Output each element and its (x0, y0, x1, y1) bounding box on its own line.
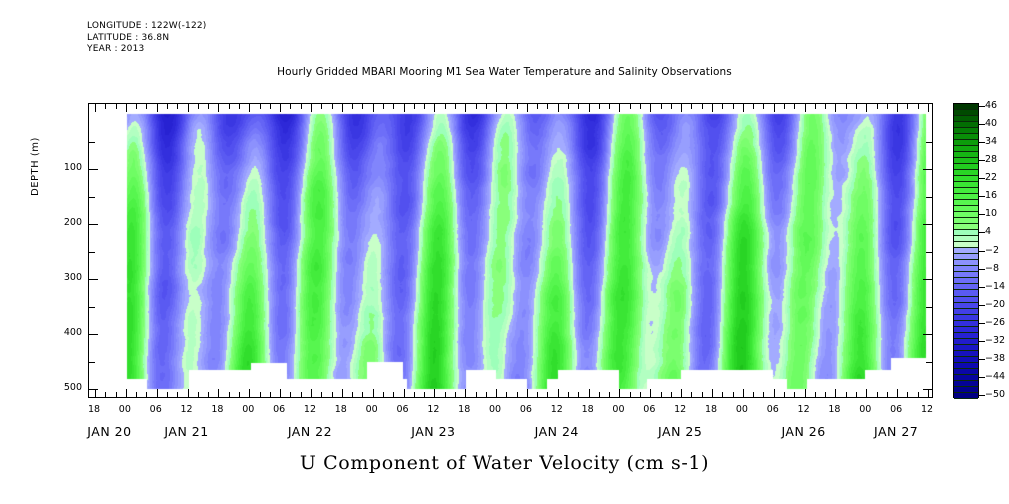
axis-tick (547, 104, 548, 109)
colorbar-tick-label: 16 (985, 190, 997, 201)
x-axis-hour-label: 18 (576, 404, 600, 415)
axis-tick (926, 307, 932, 308)
axis-tick (650, 389, 651, 397)
axis-tick (496, 389, 497, 397)
x-axis-hour-label: 06 (761, 404, 785, 415)
axis-tick (280, 389, 281, 397)
x-axis-hour-label: 00 (483, 404, 507, 415)
x-axis-day-label: JAN 22 (265, 424, 355, 439)
axis-tick (136, 104, 137, 109)
colorbar-tick-label: −26 (985, 317, 1005, 328)
axis-tick (774, 389, 775, 397)
axis-tick (681, 104, 682, 112)
axis-tick (619, 104, 620, 112)
axis-tick (198, 392, 199, 397)
colorbar-tick (979, 395, 985, 396)
colorbar-tick (979, 287, 985, 288)
axis-tick (177, 104, 178, 109)
colorbar-tick (979, 124, 985, 125)
axis-tick (311, 389, 312, 397)
axis-tick (722, 104, 723, 109)
axis-tick (926, 142, 932, 143)
axis-tick (486, 104, 487, 109)
x-axis-hour-label: 12 (421, 404, 445, 415)
axis-tick (589, 104, 590, 112)
x-axis-day-label: JAN 25 (635, 424, 725, 439)
x-axis-hour-label: 06 (267, 404, 291, 415)
axis-tick (923, 224, 932, 225)
axis-tick (167, 392, 168, 397)
axis-tick (897, 389, 898, 397)
axis-tick (926, 197, 932, 198)
axis-tick (897, 104, 898, 112)
x-axis-hour-label: 12 (545, 404, 569, 415)
axis-tick (89, 362, 95, 363)
axis-tick (825, 104, 826, 109)
x-axis-day-label: JAN 24 (512, 424, 602, 439)
colorbar-tick (979, 269, 985, 270)
axis-tick (671, 104, 672, 109)
axis-tick (89, 252, 95, 253)
y-axis-label: 200 (56, 217, 82, 228)
colorbar-tick-label: 10 (985, 208, 997, 219)
x-axis-hour-label: 06 (391, 404, 415, 415)
colorbar-tick-label: 28 (985, 154, 997, 165)
colorbar (953, 103, 979, 398)
axis-tick (866, 104, 867, 112)
axis-tick (926, 252, 932, 253)
axis-tick (877, 104, 878, 109)
axis-tick (753, 392, 754, 397)
year-text: YEAR : 2013 (87, 44, 207, 56)
axis-tick (517, 104, 518, 109)
axis-tick (671, 392, 672, 397)
axis-tick (332, 392, 333, 397)
axis-tick (846, 104, 847, 109)
axis-tick (578, 392, 579, 397)
axis-tick (249, 389, 250, 397)
axis-tick (702, 392, 703, 397)
axis-tick (239, 104, 240, 109)
x-axis-hour-label: 00 (853, 404, 877, 415)
axis-tick (229, 392, 230, 397)
y-axis-label: 500 (56, 382, 82, 393)
axis-tick (414, 104, 415, 109)
colorbar-tick-label: −2 (985, 245, 999, 256)
axis-tick (527, 104, 528, 112)
axis-tick (393, 104, 394, 109)
axis-tick (383, 104, 384, 109)
axis-tick (157, 389, 158, 397)
x-axis-hour-label: 06 (637, 404, 661, 415)
axis-tick (918, 392, 919, 397)
axis-tick (290, 104, 291, 109)
axis-tick (89, 169, 98, 170)
axis-tick (373, 389, 374, 397)
axis-tick (260, 104, 261, 109)
axis-tick (856, 392, 857, 397)
axis-tick (126, 104, 127, 112)
axis-tick (805, 389, 806, 397)
axis-tick (907, 104, 908, 109)
axis-tick (609, 392, 610, 397)
colorbar-tick-label: −20 (985, 299, 1005, 310)
x-axis-hour-label: 12 (915, 404, 939, 415)
axis-tick (445, 104, 446, 109)
y-axis-title: DEPTH (m) (30, 137, 41, 196)
axis-tick (404, 104, 405, 112)
axis-tick (105, 104, 106, 109)
colorbar-tick (979, 305, 985, 306)
axis-tick (177, 392, 178, 397)
axis-tick (188, 389, 189, 397)
axis-tick (105, 392, 106, 397)
axis-tick (825, 392, 826, 397)
axis-tick (537, 104, 538, 109)
axis-tick (301, 104, 302, 109)
colorbar-tick (979, 214, 985, 215)
colorbar-tick-label: 46 (985, 100, 997, 111)
axis-tick (89, 307, 95, 308)
axis-tick (784, 104, 785, 109)
axis-tick (650, 104, 651, 112)
colorbar-tick (979, 377, 985, 378)
axis-tick (722, 392, 723, 397)
axis-tick (89, 279, 98, 280)
x-axis-hour-label: 00 (113, 404, 137, 415)
colorbar-tick (979, 251, 985, 252)
axis-tick (918, 104, 919, 109)
colorbar-tick-label: −38 (985, 353, 1005, 364)
axis-tick (733, 392, 734, 397)
colorbar-tick (979, 178, 985, 179)
axis-tick (630, 392, 631, 397)
axis-tick (517, 392, 518, 397)
x-axis-hour-label: 06 (514, 404, 538, 415)
colorbar-tick (979, 142, 985, 143)
x-axis-hour-label: 12 (175, 404, 199, 415)
axis-tick (424, 104, 425, 109)
axis-tick (455, 104, 456, 109)
axis-tick (434, 104, 435, 112)
colorbar-tick-label: 40 (985, 118, 997, 129)
axis-tick (465, 389, 466, 397)
axis-tick (352, 104, 353, 109)
axis-tick (89, 389, 98, 390)
axis-tick (167, 104, 168, 109)
axis-tick (506, 104, 507, 109)
axis-tick (640, 104, 641, 109)
axis-tick (424, 392, 425, 397)
axis-tick (877, 392, 878, 397)
colorbar-tick-label: −50 (985, 389, 1005, 400)
axis-tick (928, 104, 929, 112)
x-axis-hour-label: 18 (452, 404, 476, 415)
axis-tick (712, 389, 713, 397)
figure-title: Hourly Gridded MBARI Mooring M1 Sea Wate… (0, 66, 1009, 78)
axis-tick (815, 104, 816, 109)
axis-tick (506, 392, 507, 397)
x-axis-day-label: JAN 21 (142, 424, 232, 439)
axis-tick (609, 104, 610, 109)
axis-tick (157, 104, 158, 112)
x-axis-hour-label: 06 (144, 404, 168, 415)
axis-tick (404, 389, 405, 397)
axis-tick (578, 104, 579, 109)
axis-tick (218, 389, 219, 397)
axis-tick (362, 392, 363, 397)
x-axis-hour-label: 00 (236, 404, 260, 415)
axis-tick (805, 104, 806, 112)
axis-tick (926, 362, 932, 363)
axis-tick (229, 104, 230, 109)
x-axis-hour-label: 18 (699, 404, 723, 415)
axis-tick (393, 392, 394, 397)
colorbar-band (954, 393, 978, 399)
colorbar-tick-label: −8 (985, 263, 999, 274)
axis-tick (537, 392, 538, 397)
axis-tick (923, 389, 932, 390)
axis-tick (815, 392, 816, 397)
axis-tick (89, 142, 95, 143)
axis-tick (661, 104, 662, 109)
axis-tick (763, 104, 764, 109)
x-axis-day-label: JAN 26 (759, 424, 849, 439)
axis-tick (362, 104, 363, 109)
axis-tick (352, 392, 353, 397)
colorbar-tick (979, 160, 985, 161)
axis-tick (887, 104, 888, 109)
y-axis-label: 300 (56, 272, 82, 283)
axis-tick (301, 392, 302, 397)
axis-tick (136, 392, 137, 397)
axis-tick (126, 389, 127, 397)
x-axis-hour-label: 18 (822, 404, 846, 415)
axis-tick (434, 389, 435, 397)
axis-tick (218, 104, 219, 112)
axis-tick (116, 392, 117, 397)
axis-tick (794, 392, 795, 397)
x-axis-hour-label: 00 (730, 404, 754, 415)
axis-tick (270, 104, 271, 109)
axis-tick (568, 392, 569, 397)
axis-tick (342, 104, 343, 112)
colorbar-tick (979, 196, 985, 197)
axis-tick (743, 104, 744, 112)
axis-tick (373, 104, 374, 112)
axis-tick (774, 104, 775, 112)
axis-tick (923, 279, 932, 280)
axis-tick (239, 392, 240, 397)
axis-tick (763, 392, 764, 397)
axis-tick (321, 104, 322, 109)
figure-caption: U Component of Water Velocity (cm s-1) (0, 452, 1009, 474)
axis-tick (496, 104, 497, 112)
colorbar-tick-label: −44 (985, 371, 1005, 382)
axis-tick (630, 104, 631, 109)
velocity-field-canvas (89, 104, 932, 397)
colorbar-tick (979, 341, 985, 342)
x-axis-hour-label: 12 (668, 404, 692, 415)
colorbar-tick-label: 4 (985, 226, 991, 237)
axis-tick (249, 104, 250, 112)
axis-tick (89, 197, 95, 198)
axis-tick (342, 389, 343, 397)
axis-tick (589, 389, 590, 397)
axis-tick (691, 104, 692, 109)
axis-tick (95, 389, 96, 397)
axis-tick (835, 104, 836, 112)
axis-tick (558, 389, 559, 397)
axis-tick (311, 104, 312, 112)
colorbar-tick-label: 34 (985, 136, 997, 147)
longitude-text: LONGITUDE : 122W(-122) (87, 21, 207, 33)
x-axis-hour-label: 12 (298, 404, 322, 415)
axis-tick (270, 392, 271, 397)
x-axis-hour-label: 00 (360, 404, 384, 415)
axis-tick (784, 392, 785, 397)
axis-tick (691, 392, 692, 397)
axis-tick (753, 104, 754, 109)
axis-tick (640, 392, 641, 397)
axis-tick (928, 389, 929, 397)
colorbar-tick (979, 106, 985, 107)
axis-tick (89, 224, 98, 225)
x-axis-hour-label: 00 (606, 404, 630, 415)
axis-tick (681, 389, 682, 397)
axis-tick (146, 392, 147, 397)
axis-tick (260, 392, 261, 397)
axis-tick (568, 104, 569, 109)
axis-tick (712, 104, 713, 112)
y-axis-label: 100 (56, 162, 82, 173)
colorbar-tick (979, 323, 985, 324)
axis-tick (321, 392, 322, 397)
axis-tick (846, 392, 847, 397)
axis-tick (856, 104, 857, 109)
axis-tick (887, 392, 888, 397)
axis-tick (547, 392, 548, 397)
axis-tick (476, 392, 477, 397)
x-axis-day-label: JAN 23 (388, 424, 478, 439)
axis-tick (476, 104, 477, 109)
axis-tick (146, 104, 147, 109)
plot-area (88, 103, 933, 398)
axis-tick (445, 392, 446, 397)
axis-tick (835, 389, 836, 397)
axis-tick (465, 104, 466, 112)
x-axis-hour-label: 06 (884, 404, 908, 415)
axis-tick (198, 104, 199, 109)
x-axis-hour-label: 12 (792, 404, 816, 415)
axis-tick (208, 104, 209, 109)
axis-tick (414, 392, 415, 397)
axis-tick (558, 104, 559, 112)
axis-tick (923, 334, 932, 335)
axis-tick (332, 104, 333, 109)
axis-tick (527, 389, 528, 397)
colorbar-tick (979, 232, 985, 233)
axis-tick (619, 389, 620, 397)
axis-tick (702, 104, 703, 109)
axis-tick (290, 392, 291, 397)
metadata-header: LONGITUDE : 122W(-122) LATITUDE : 36.8N … (87, 21, 207, 56)
axis-tick (280, 104, 281, 112)
axis-tick (188, 104, 189, 112)
axis-tick (599, 392, 600, 397)
colorbar-tick-label: −14 (985, 281, 1005, 292)
axis-tick (733, 104, 734, 109)
x-axis-hour-label: 18 (82, 404, 106, 415)
axis-tick (486, 392, 487, 397)
x-axis-hour-label: 18 (205, 404, 229, 415)
colorbar-tick-label: 22 (985, 172, 997, 183)
axis-tick (599, 104, 600, 109)
axis-tick (794, 104, 795, 109)
axis-tick (866, 389, 867, 397)
x-axis-hour-label: 18 (329, 404, 353, 415)
x-axis-day-label: JAN 27 (851, 424, 941, 439)
latitude-text: LATITUDE : 36.8N (87, 33, 207, 45)
axis-tick (907, 392, 908, 397)
heatmap-field (89, 104, 932, 397)
y-axis-label: 400 (56, 327, 82, 338)
colorbar-tick (979, 359, 985, 360)
axis-tick (116, 104, 117, 109)
axis-tick (95, 104, 96, 112)
axis-tick (661, 392, 662, 397)
axis-tick (743, 389, 744, 397)
axis-tick (89, 334, 98, 335)
axis-tick (208, 392, 209, 397)
axis-tick (383, 392, 384, 397)
colorbar-tick-label: −32 (985, 335, 1005, 346)
axis-tick (455, 392, 456, 397)
axis-tick (923, 169, 932, 170)
